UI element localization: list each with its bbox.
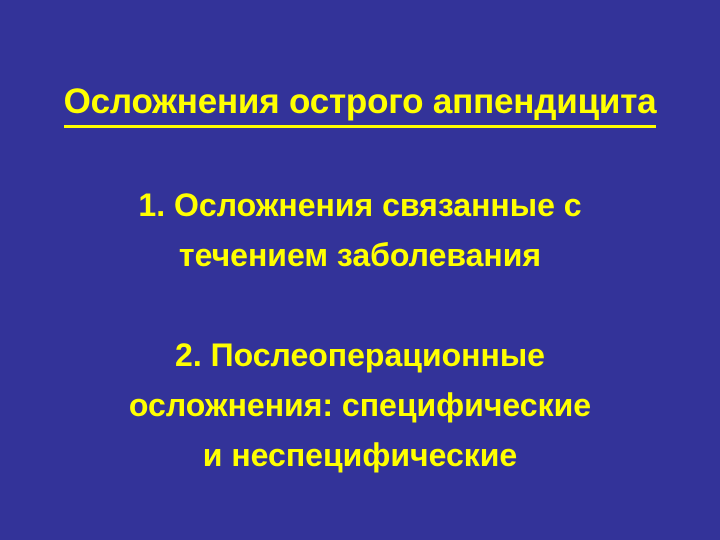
list-item: 2. Послеоперационные осложнения: специфи… bbox=[0, 330, 720, 480]
item-spacer bbox=[0, 280, 720, 330]
slide-body: 1. Осложнения связанные с течением забол… bbox=[0, 180, 720, 480]
list-item-line: течением заболевания bbox=[0, 230, 720, 280]
list-item: 1. Осложнения связанные с течением забол… bbox=[0, 180, 720, 280]
presentation-slide: Осложнения острого аппендицита 1. Осложн… bbox=[0, 0, 720, 540]
list-item-line: 1. Осложнения связанные с bbox=[0, 180, 720, 230]
list-item-line: и неспецифические bbox=[0, 430, 720, 480]
list-item-line: осложнения: специфические bbox=[0, 380, 720, 430]
list-item-line: 2. Послеоперационные bbox=[0, 330, 720, 380]
slide-title: Осложнения острого аппендицита bbox=[0, 82, 720, 128]
slide-title-text: Осложнения острого аппендицита bbox=[64, 82, 657, 128]
